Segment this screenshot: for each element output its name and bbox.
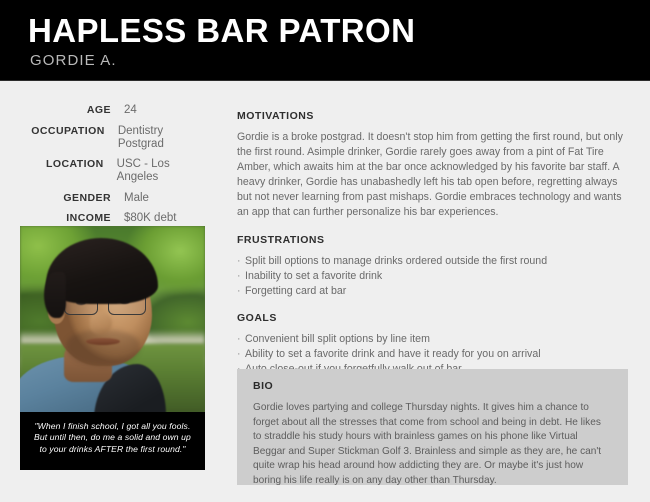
list-item: Convenient bill split options by line it… (237, 332, 628, 347)
list-item: Forgetting card at bar (237, 284, 628, 299)
demographic-label-income: INCOME (20, 212, 124, 225)
section-goals: GOALS Convenient bill split options by l… (237, 312, 628, 377)
photo-subject-stubble (66, 330, 140, 366)
table-row: INCOME $80K debt (20, 212, 206, 225)
table-row: LOCATION USC - Los Angeles (20, 158, 206, 184)
section-title-bio: BIO (253, 380, 612, 393)
demographics-table: AGE 24 OCCUPATION Dentistry Postgrad LOC… (20, 104, 206, 233)
section-motivations: MOTIVATIONS Gordie is a broke postgrad. … (237, 110, 628, 221)
photo-subject-hair-side (44, 272, 66, 318)
demographic-label-location: LOCATION (20, 158, 117, 171)
demographic-value-occupation: Dentistry Postgrad (118, 125, 206, 151)
page-title: HAPLESS BAR PATRON (28, 12, 415, 50)
persona-photo-block: "When I finish school, I got all you foo… (20, 226, 205, 470)
list-item: Inability to set a favorite drink (237, 269, 628, 284)
section-title-goals: GOALS (237, 312, 628, 325)
table-row: OCCUPATION Dentistry Postgrad (20, 125, 206, 151)
demographic-label-occupation: OCCUPATION (20, 125, 118, 138)
header-banner: HAPLESS BAR PATRON GORDIE A. (0, 0, 650, 81)
list-item: Ability to set a favorite drink and have… (237, 347, 628, 362)
persona-name: GORDIE A. (30, 52, 117, 69)
section-title-frustrations: FRUSTRATIONS (237, 234, 628, 247)
demographic-value-location: USC - Los Angeles (117, 158, 206, 184)
avatar (20, 226, 205, 412)
list-item: Split bill options to manage drinks orde… (237, 254, 628, 269)
table-row: AGE 24 (20, 104, 206, 117)
section-title-motivations: MOTIVATIONS (237, 110, 628, 123)
section-body-bio: Gordie loves partying and college Thursd… (253, 401, 612, 489)
content-column: MOTIVATIONS Gordie is a broke postgrad. … (237, 110, 628, 390)
demographic-value-age: 24 (124, 104, 137, 117)
section-bio: BIO Gordie loves partying and college Th… (237, 369, 628, 485)
section-frustrations: FRUSTRATIONS Split bill options to manag… (237, 234, 628, 299)
table-row: GENDER Male (20, 192, 206, 205)
photo-subject-mouth (86, 338, 120, 345)
persona-card: HAPLESS BAR PATRON GORDIE A. AGE 24 OCCU… (0, 0, 650, 502)
section-body-motivations: Gordie is a broke postgrad. It doesn't s… (237, 130, 628, 221)
demographic-value-income: $80K debt (124, 212, 176, 225)
frustrations-list: Split bill options to manage drinks orde… (237, 254, 628, 299)
demographic-label-age: AGE (20, 104, 124, 117)
demographic-value-gender: Male (124, 192, 149, 205)
demographic-label-gender: GENDER (20, 192, 124, 205)
persona-quote: "When I finish school, I got all you foo… (20, 412, 205, 470)
